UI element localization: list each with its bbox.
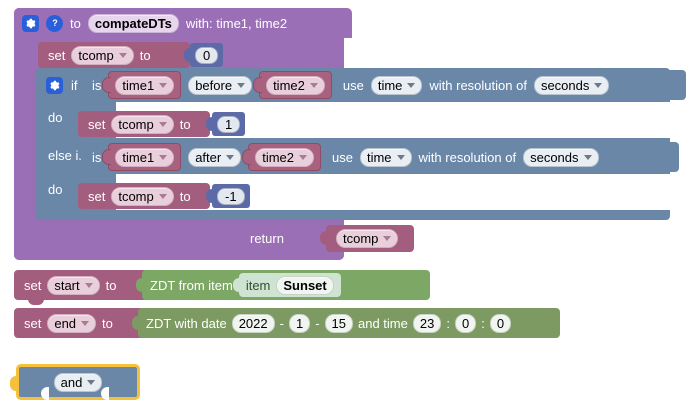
set-variable-block-start[interactable]: set start to ZDT from item item Sunset bbox=[14, 270, 414, 304]
number-field-0[interactable]: 0 bbox=[195, 47, 218, 64]
chevron-down-icon bbox=[159, 83, 167, 88]
help-icon[interactable]: ? bbox=[46, 15, 63, 32]
chevron-down-icon bbox=[159, 155, 167, 160]
item-label: item bbox=[246, 278, 271, 293]
number-field-minus-1[interactable]: -1 bbox=[217, 188, 245, 205]
stack-connector bbox=[28, 299, 44, 305]
date-separator-1: - bbox=[280, 316, 284, 331]
gear-icon[interactable] bbox=[46, 77, 63, 94]
chevron-down-icon bbox=[159, 194, 167, 199]
to-label: to bbox=[180, 117, 191, 132]
gear-icon[interactable] bbox=[22, 15, 39, 32]
return-row: return bbox=[250, 226, 284, 250]
number-block-minus-1[interactable]: -1 bbox=[212, 184, 250, 208]
and-operator-dropdown[interactable]: and bbox=[54, 373, 103, 392]
number-block-1[interactable]: 1 bbox=[212, 112, 245, 136]
operator-dropdown-after[interactable]: after bbox=[188, 148, 241, 167]
variable-dropdown-tcomp-1[interactable]: tcomp bbox=[111, 115, 173, 134]
return-variable-dropdown[interactable]: tcomp bbox=[336, 229, 398, 248]
time-separator-2: : bbox=[481, 316, 485, 331]
procedure-footer bbox=[14, 230, 344, 260]
chevron-down-icon bbox=[87, 380, 95, 385]
plug-tab bbox=[184, 48, 191, 62]
plug-tab bbox=[136, 278, 143, 292]
plug-tab bbox=[233, 278, 240, 292]
if-label: if bbox=[71, 78, 78, 93]
is-label-2: is bbox=[92, 150, 101, 165]
chevron-down-icon bbox=[299, 155, 307, 160]
variable-dropdown-time2-a[interactable]: time2 bbox=[266, 76, 325, 95]
plug-tab bbox=[206, 117, 213, 131]
item-block-sunset[interactable]: item Sunset bbox=[239, 273, 341, 297]
procedure-header[interactable]: ? to compateDTs with: time1, time2 bbox=[14, 8, 352, 38]
variable-dropdown-time1-a[interactable]: time1 bbox=[115, 76, 174, 95]
date-separator-2: - bbox=[315, 316, 319, 331]
zdt-with-date-label: ZDT with date bbox=[146, 316, 227, 331]
compare-datetimes-block-1[interactable]: is time1 before time2 use time with reso… bbox=[84, 70, 686, 100]
to-label: to bbox=[106, 278, 117, 293]
zdt-from-item-block[interactable]: ZDT from item item Sunset bbox=[142, 270, 430, 300]
chevron-down-icon bbox=[310, 83, 318, 88]
year-field[interactable]: 2022 bbox=[232, 314, 275, 333]
variable-getter-time1-a[interactable]: time1 bbox=[108, 71, 181, 99]
set-label: set bbox=[88, 189, 105, 204]
plug-tab bbox=[10, 376, 19, 391]
variable-getter-time2-a[interactable]: time2 bbox=[259, 71, 332, 99]
use-dropdown-time-1[interactable]: time bbox=[371, 76, 423, 95]
set-variable-block-tcomp-2[interactable]: set tcomp to bbox=[78, 183, 210, 209]
set-label: set bbox=[48, 48, 65, 63]
variable-dropdown-end[interactable]: end bbox=[47, 314, 96, 333]
to-label: to bbox=[140, 48, 151, 63]
procedure-name-field[interactable]: compateDTs bbox=[88, 14, 179, 33]
plug-tab bbox=[102, 77, 111, 93]
use-dropdown-time-2[interactable]: time bbox=[360, 148, 412, 167]
is-label-1: is bbox=[92, 78, 101, 93]
chevron-down-icon bbox=[383, 236, 391, 241]
plug-tab bbox=[78, 148, 85, 160]
zdt-from-item-label: ZDT from item bbox=[150, 278, 233, 293]
second-field[interactable]: 0 bbox=[490, 314, 511, 333]
resolution-label-1: with resolution of bbox=[429, 78, 527, 93]
chevron-down-icon bbox=[159, 122, 167, 127]
plug-tab bbox=[253, 77, 262, 93]
procedure-body-spine bbox=[14, 38, 36, 230]
resolution-label-2: with resolution of bbox=[419, 150, 517, 165]
variable-dropdown-time1-b[interactable]: time1 bbox=[115, 148, 174, 167]
variable-getter-time2-b[interactable]: time2 bbox=[248, 143, 321, 171]
hour-field[interactable]: 23 bbox=[413, 314, 441, 333]
do-label-2: do bbox=[48, 182, 62, 197]
resolution-dropdown-seconds-2[interactable]: seconds bbox=[523, 148, 598, 167]
day-field[interactable]: 15 bbox=[325, 314, 353, 333]
svg-text:?: ? bbox=[52, 18, 58, 28]
set-variable-block-end[interactable]: set end to ZDT with date 2022 - 1 - 15 a… bbox=[14, 308, 544, 342]
variable-dropdown-tcomp[interactable]: tcomp bbox=[71, 46, 133, 65]
chevron-down-icon bbox=[397, 155, 405, 160]
else-if-clause-header: else if bbox=[36, 138, 82, 172]
return-value-block[interactable]: tcomp bbox=[326, 225, 414, 252]
chevron-down-icon bbox=[594, 83, 602, 88]
variable-dropdown-tcomp-2[interactable]: tcomp bbox=[111, 187, 173, 206]
number-block-0[interactable]: 0 bbox=[190, 43, 223, 67]
plug-tab bbox=[206, 189, 213, 203]
chevron-down-icon bbox=[85, 283, 93, 288]
chevron-down-icon bbox=[584, 155, 592, 160]
variable-dropdown-start[interactable]: start bbox=[47, 276, 99, 295]
plug-tab bbox=[102, 149, 111, 165]
chevron-down-icon bbox=[81, 321, 89, 326]
plug-tab bbox=[132, 316, 139, 330]
time-separator-1: : bbox=[446, 316, 450, 331]
chevron-down-icon bbox=[407, 83, 415, 88]
procedure-params-label: with: time1, time2 bbox=[186, 16, 287, 31]
if-clause-header: if bbox=[36, 68, 78, 102]
to-label: to bbox=[102, 316, 113, 331]
use-label-1: use bbox=[343, 78, 364, 93]
chevron-down-icon bbox=[226, 155, 234, 160]
and-time-label: and time bbox=[358, 316, 408, 331]
minute-field[interactable]: 0 bbox=[455, 314, 476, 333]
number-field-1[interactable]: 1 bbox=[217, 116, 240, 133]
set-variable-block-tcomp-init[interactable]: set tcomp to bbox=[38, 42, 190, 68]
return-label: return bbox=[250, 231, 284, 246]
plug-tab bbox=[78, 76, 85, 88]
do-label-1: do bbox=[48, 110, 62, 125]
variable-dropdown-time2-b[interactable]: time2 bbox=[255, 148, 314, 167]
set-variable-block-tcomp-1[interactable]: set tcomp to bbox=[78, 111, 210, 137]
compare-datetimes-block-2[interactable]: is time1 after time2 use time with resol… bbox=[84, 142, 679, 172]
set-label: set bbox=[24, 316, 41, 331]
to-label: to bbox=[180, 189, 191, 204]
resolution-dropdown-seconds-1[interactable]: seconds bbox=[534, 76, 609, 95]
procedure-to-label: to bbox=[70, 16, 81, 31]
else-if-label: else if bbox=[48, 148, 82, 163]
blockly-workspace[interactable]: ? to compateDTs with: time1, time2 retur… bbox=[0, 0, 690, 411]
month-field[interactable]: 1 bbox=[289, 314, 310, 333]
set-label: set bbox=[24, 278, 41, 293]
operator-dropdown-before[interactable]: before bbox=[188, 76, 252, 95]
logic-and-block[interactable]: and bbox=[16, 364, 140, 400]
item-name-field[interactable]: Sunset bbox=[276, 276, 333, 295]
plug-tab bbox=[320, 231, 327, 245]
use-label-2: use bbox=[332, 150, 353, 165]
variable-getter-time1-b[interactable]: time1 bbox=[108, 143, 181, 171]
set-label: set bbox=[88, 117, 105, 132]
chevron-down-icon bbox=[237, 83, 245, 88]
chevron-down-icon bbox=[119, 53, 127, 58]
zdt-with-date-block[interactable]: ZDT with date 2022 - 1 - 15 and time 23 … bbox=[138, 308, 560, 338]
plug-tab bbox=[242, 149, 251, 165]
